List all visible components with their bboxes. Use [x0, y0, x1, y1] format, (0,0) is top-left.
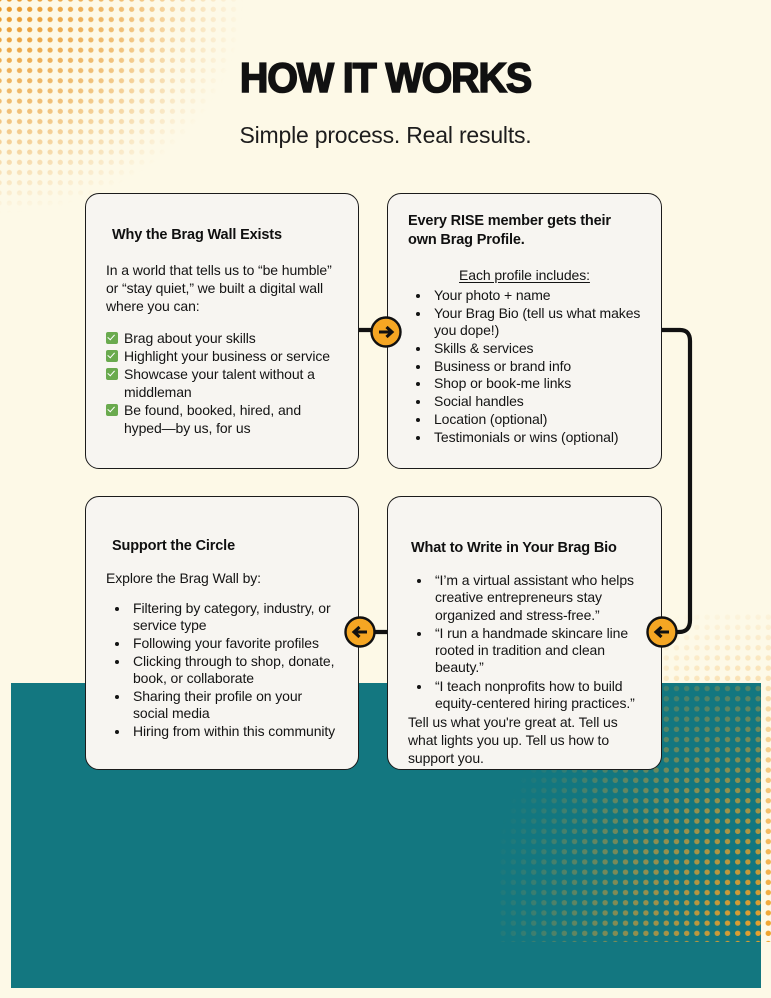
- list-item: Showcase your talent without a middleman: [106, 365, 338, 401]
- list-item: “I run a handmade skincare line rooted i…: [432, 625, 641, 677]
- list-item: Testimonials or wins (optional): [431, 429, 641, 446]
- list-item: “I teach nonprofits how to build equity-…: [432, 678, 641, 713]
- list-item: Location (optional): [431, 411, 641, 428]
- check-icon: [106, 368, 118, 380]
- card-why-the-brag-wall-exists: Why the Brag Wall Exists In a world that…: [85, 193, 359, 469]
- arrow-left-icon-into-card3: [343, 615, 377, 649]
- card-3-intro: Explore the Brag Wall by:: [106, 569, 338, 587]
- list-item: Brag about your skills: [106, 329, 338, 347]
- list-item: Skills & services: [431, 340, 641, 357]
- page-subtitle: Simple process. Real results.: [0, 101, 771, 149]
- list-item: Business or brand info: [431, 358, 641, 375]
- list-item-label: Be found, booked, hired, and hyped—by us…: [124, 402, 301, 436]
- list-item: Your Brag Bio (tell us what makes you do…: [431, 305, 641, 340]
- list-item: Clicking through to shop, donate, book, …: [130, 653, 338, 688]
- list-item: Filtering by category, industry, or serv…: [130, 600, 338, 635]
- page-title: HOW IT WORKS: [23, 0, 748, 101]
- arrow-right-icon: [369, 315, 403, 349]
- list-item: Social handles: [431, 393, 641, 410]
- how-it-works-infographic: HOW IT WORKS Simple process. Real result…: [0, 0, 771, 998]
- check-icon: [106, 404, 118, 416]
- list-item: Sharing their profile on your social med…: [130, 688, 338, 723]
- check-icon: [106, 350, 118, 362]
- card-4-heading: What to Write in Your Brag Bio: [411, 539, 641, 558]
- header: HOW IT WORKS Simple process. Real result…: [0, 0, 771, 149]
- card-4-bullet-list: “I’m a virtual assistant who helps creat…: [408, 572, 641, 712]
- list-item-label: Highlight your business or service: [124, 348, 330, 364]
- card-3-bullet-list: Filtering by category, industry, or serv…: [106, 600, 338, 740]
- list-item: Hiring from within this community: [130, 723, 338, 740]
- list-item: “I’m a virtual assistant who helps creat…: [432, 572, 641, 624]
- card-1-intro: In a world that tells us to “be humble” …: [106, 261, 338, 315]
- card-2-bullet-list: Your photo + name Your Brag Bio (tell us…: [408, 287, 641, 446]
- card-2-heading: Every RISE member gets their own Brag Pr…: [408, 212, 641, 250]
- arrow-left-icon-into-card4: [645, 615, 679, 649]
- card-3-heading: Support the Circle: [112, 537, 338, 556]
- card-what-to-write-in-your-brag-bio: What to Write in Your Brag Bio “I’m a vi…: [387, 496, 662, 770]
- card-4-closing-text: Tell us what you're great at. Tell us wh…: [408, 713, 641, 767]
- check-icon: [106, 332, 118, 344]
- list-item-label: Showcase your talent without a middleman: [124, 366, 315, 400]
- list-item: Be found, booked, hired, and hyped—by us…: [106, 401, 338, 437]
- list-item: Highlight your business or service: [106, 347, 338, 365]
- card-2-sub-heading: Each profile includes:: [408, 266, 641, 284]
- card-support-the-circle: Support the Circle Explore the Brag Wall…: [85, 496, 359, 770]
- list-item: Shop or book-me links: [431, 375, 641, 392]
- card-1-heading: Why the Brag Wall Exists: [112, 226, 338, 245]
- list-item-label: Brag about your skills: [124, 330, 256, 346]
- spacer: [106, 556, 338, 569]
- spacer: [106, 245, 338, 261]
- card-1-check-list: Brag about your skills Highlight your bu…: [106, 329, 338, 437]
- list-item: Following your favorite profiles: [130, 635, 338, 652]
- card-every-rise-member-profile: Every RISE member gets their own Brag Pr…: [387, 193, 662, 469]
- list-item: Your photo + name: [431, 287, 641, 304]
